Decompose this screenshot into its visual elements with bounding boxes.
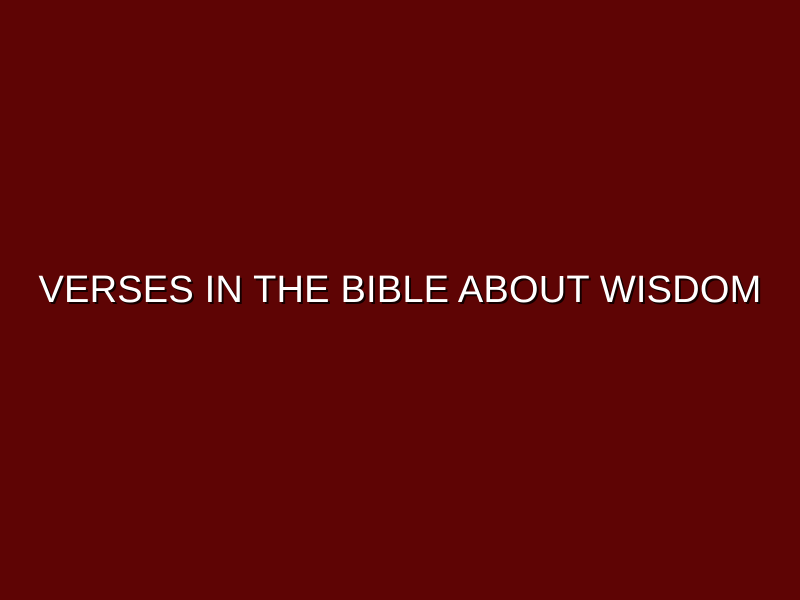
title-container: VERSES IN THE BIBLE ABOUT WISDOM <box>0 268 800 312</box>
page-title: VERSES IN THE BIBLE ABOUT WISDOM <box>39 268 762 312</box>
title-card: VERSES IN THE BIBLE ABOUT WISDOM <box>0 0 800 600</box>
